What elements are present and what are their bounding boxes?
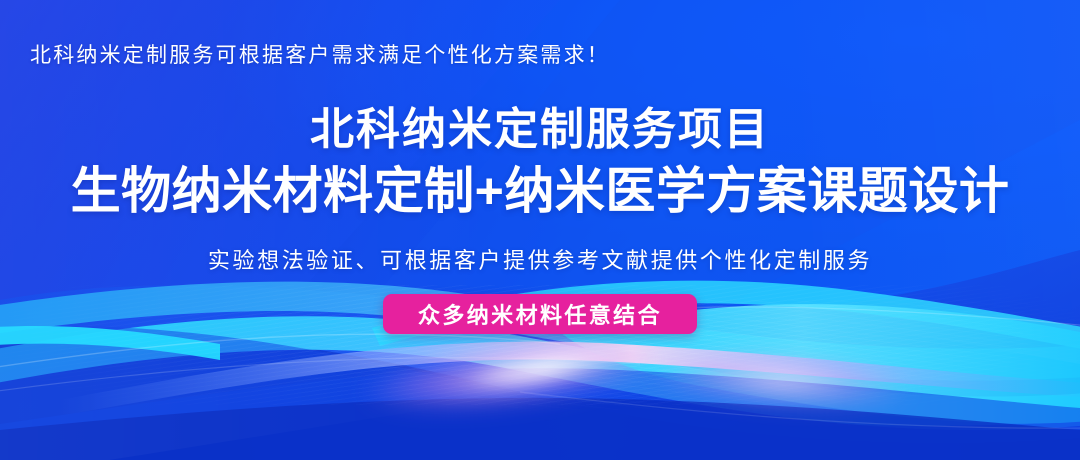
banner-content: 北科纳米定制服务可根据客户需求满足个性化方案需求！ 北科纳米定制服务项目 生物纳…: [0, 0, 1080, 460]
headline-line-2: 生物纳米材料定制+纳米医学方案课题设计: [0, 162, 1080, 221]
badge-label: 众多纳米材料任意结合: [418, 298, 662, 330]
promo-banner: 北科纳米定制服务可根据客户需求满足个性化方案需求！ 北科纳米定制服务项目 生物纳…: [0, 0, 1080, 460]
banner-subtitle: 实验想法验证、可根据客户提供参考文献提供个性化定制服务: [0, 243, 1080, 275]
banner-eyebrow-text: 北科纳米定制服务可根据客户需求满足个性化方案需求！: [30, 39, 610, 69]
badge-nano-material-combination[interactable]: 众多纳米材料任意结合: [383, 294, 697, 334]
banner-headline: 北科纳米定制服务项目 生物纳米材料定制+纳米医学方案课题设计: [0, 104, 1080, 221]
headline-line-1: 北科纳米定制服务项目: [0, 104, 1080, 156]
